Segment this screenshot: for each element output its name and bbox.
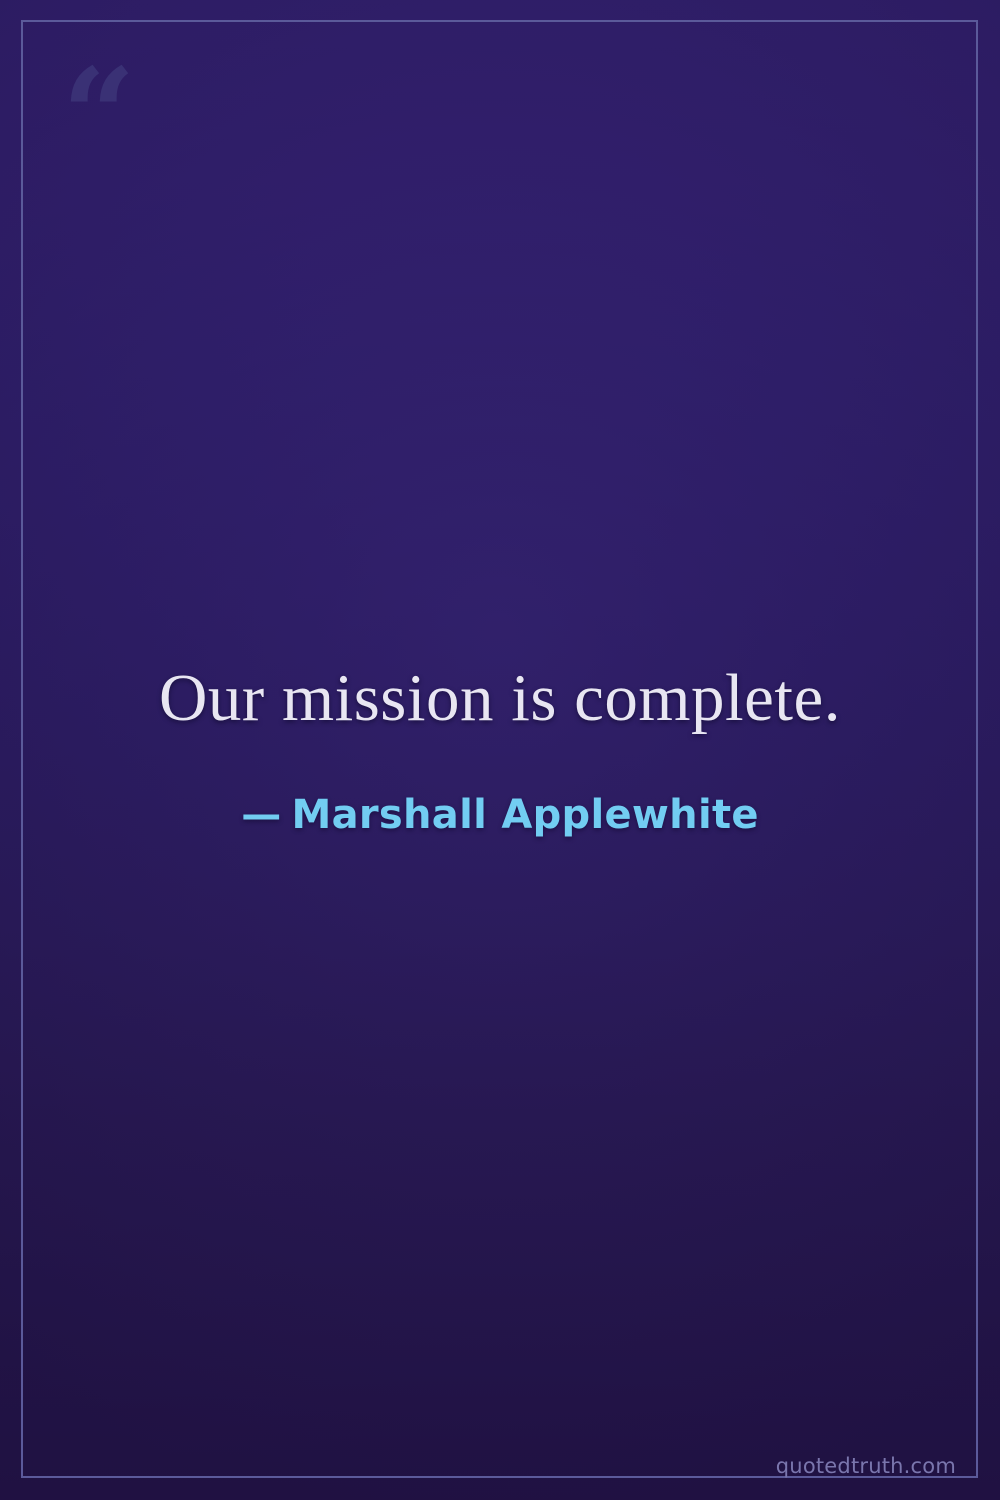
attribution-author-name: Marshall Applewhite xyxy=(292,792,759,838)
quote-text: Our mission is complete. xyxy=(159,659,841,738)
site-watermark: quotedtruth.com xyxy=(776,1454,956,1478)
quote-content: Our mission is complete. —Marshall Apple… xyxy=(0,0,1000,1500)
attribution-dash: — xyxy=(241,792,281,838)
quote-attribution: —Marshall Applewhite xyxy=(241,789,759,841)
quote-card: “ Our mission is complete. —Marshall App… xyxy=(0,0,1000,1500)
